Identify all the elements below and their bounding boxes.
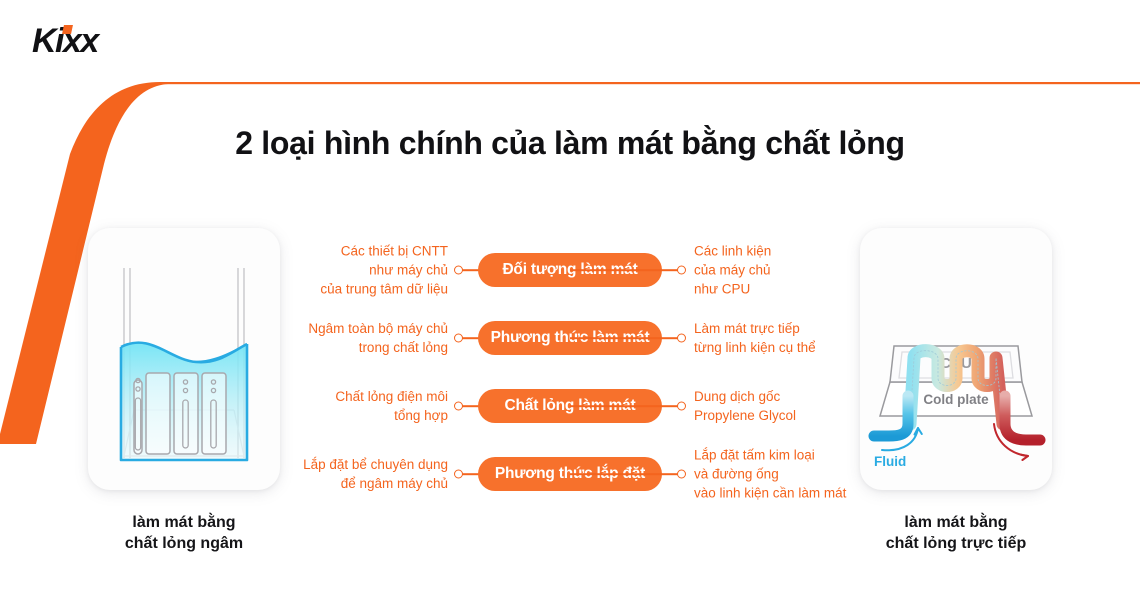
infographic-root: Kixx 2 loại hình chính của làm mát bằng …: [0, 0, 1140, 601]
comparison-row: Chất lỏng điện môitổng hợp Chất lỏng làm…: [0, 372, 1140, 440]
connector-line: [570, 405, 678, 407]
connector-right: [570, 332, 686, 344]
kixx-logo: Kixx: [32, 22, 98, 61]
comparison-row: Các thiết bị CNTTnhư máy chủcủa trung tâ…: [0, 236, 1140, 304]
connector-right: [570, 264, 686, 276]
connector-line: [570, 337, 678, 339]
row-right-text: Các linh kiệncủa máy chủnhư CPU: [694, 241, 924, 298]
row-left-text: Lắp đặt bể chuyên dụngđể ngâm máy chủ: [188, 455, 448, 493]
connector-line: [570, 269, 678, 271]
page-title: 2 loại hình chính của làm mát bằng chất …: [120, 125, 1020, 162]
row-left-text: Các thiết bị CNTTnhư máy chủcủa trung tâ…: [188, 241, 448, 298]
kixx-logo-accent-icon: [62, 25, 73, 34]
row-left-text: Chất lỏng điện môitổng hợp: [188, 387, 448, 425]
comparison-row: Ngâm toàn bộ máy chủtrong chất lỏng Phươ…: [0, 304, 1140, 372]
comparison-rows: Các thiết bị CNTTnhư máy chủcủa trung tâ…: [0, 236, 1140, 508]
connector-dot-icon: [677, 470, 686, 479]
immersion-cooling-caption: làm mát bằngchất lỏng ngâm: [44, 512, 324, 554]
comparison-row: Lắp đặt bể chuyên dụngđể ngâm máy chủ Ph…: [0, 440, 1140, 508]
connector-dot-icon: [677, 402, 686, 411]
connector-dot-icon: [677, 266, 686, 275]
direct-liquid-cooling-caption: làm mát bằngchất lỏng trực tiếp: [816, 512, 1096, 554]
row-right-text: Lắp đặt tấm kim loạivà đường ốngvào linh…: [694, 445, 924, 502]
connector-right: [570, 400, 686, 412]
connector-right: [570, 468, 686, 480]
row-left-text: Ngâm toàn bộ máy chủtrong chất lỏng: [188, 319, 448, 357]
row-right-text: Làm mát trực tiếptừng linh kiện cụ thể: [694, 319, 924, 357]
row-right-text: Dung dịch gốcPropylene Glycol: [694, 387, 924, 425]
connector-dot-icon: [677, 334, 686, 343]
connector-line: [570, 473, 678, 475]
